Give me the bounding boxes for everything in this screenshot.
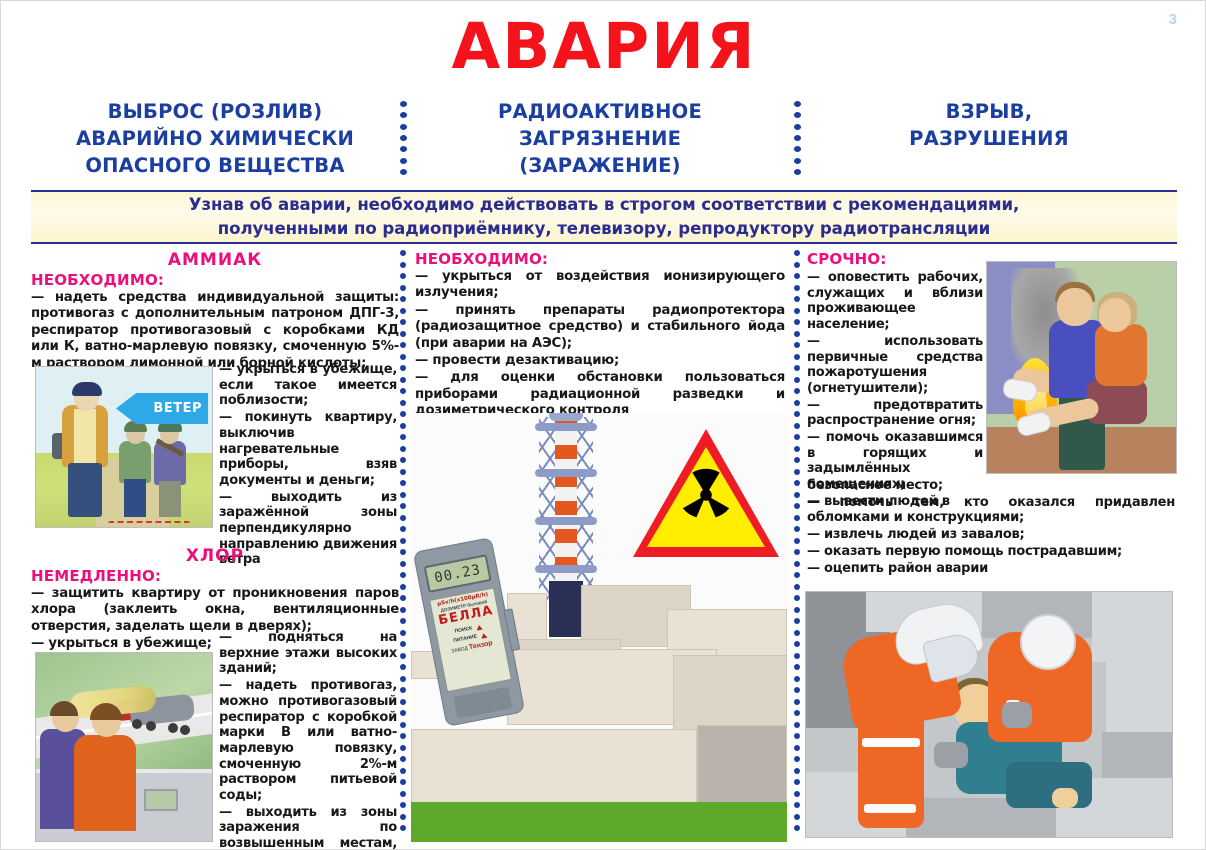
poster-root: 3 АВАРИЯ ВЫБРОС (РОЗЛИВ) АВАРИЙНО ХИМИЧЕ… bbox=[0, 0, 1206, 850]
explosion-full-item-1: — помочь тем, кто оказался придавлен обл… bbox=[807, 495, 1175, 526]
heading-radiation: РАДИОАКТИВНОЕ ЗАГРЯЗНЕНИЕ (ЗАРАЖЕНИЕ) bbox=[407, 97, 793, 180]
heading-chemical: ВЫБРОС (РОЗЛИВ) АВАРИЙНО ХИМИЧЕСКИ ОПАСН… bbox=[31, 97, 399, 180]
advisory-banner: Узнав об аварии, необходимо действовать … bbox=[31, 190, 1177, 244]
tanker-wheel-shape bbox=[168, 723, 178, 733]
chlorine-item-0: — защитить квартиру от проникновения пар… bbox=[31, 586, 399, 635]
chlorine-items-right: — подняться на верхние этажи высоких зда… bbox=[219, 630, 397, 850]
radiation-item-1: — принять препараты радиопротектора (рад… bbox=[415, 303, 785, 352]
explosion-full-item-2: — извлечь людей из завалов; bbox=[807, 527, 1175, 543]
man2-body-shape bbox=[74, 735, 136, 831]
tanker-wheel-shape bbox=[146, 721, 156, 731]
ammonia-items: — надеть средства индивидуальной защиты:… bbox=[31, 290, 399, 372]
adult-cap-shape bbox=[72, 382, 102, 396]
heading-explosion: ВЗРЫВ, РАЗРУШЕНИЯ bbox=[801, 97, 1177, 153]
chlorine-right-item-0: — подняться на верхние этажи высоких зда… bbox=[219, 630, 397, 677]
heading-chemical-line1: ВЫБРОС (РОЗЛИВ) bbox=[31, 99, 399, 126]
dosimeter-maker-prefix: ЗАВОД bbox=[451, 646, 469, 655]
adult-vest-shape bbox=[74, 409, 96, 465]
column-radiation: НЕОБХОДИМО: — укрыться от воздействия ио… bbox=[407, 250, 793, 846]
grass-strip bbox=[411, 802, 787, 842]
rock-shape bbox=[1092, 592, 1173, 662]
chimney-ring-shape bbox=[535, 565, 597, 573]
victim-head-shape bbox=[1099, 298, 1131, 332]
nuclear-plant-illustration: 00.23 µSv/h(x100µR/h) ДОЗИМЕТР бытовой Б… bbox=[411, 413, 787, 842]
chlorine-tanker-illustration bbox=[35, 652, 213, 842]
chimney-ring-shape bbox=[535, 423, 597, 431]
hi-vis-stripe bbox=[862, 738, 920, 747]
heading-chemical-line3: ОПАСНОГО ВЕЩЕСТВА bbox=[31, 153, 399, 180]
chimney-ring-shape bbox=[535, 469, 597, 477]
heading-radiation-line2: ЗАГРЯЗНЕНИЕ bbox=[407, 126, 793, 153]
content-columns: АММИАК НЕОБХОДИМО: — надеть средства инд… bbox=[31, 250, 1177, 846]
building-block bbox=[411, 729, 697, 803]
triangle-icon bbox=[480, 632, 487, 638]
heading-chemical-line2: АВАРИЙНО ХИМИЧЕСКИ bbox=[31, 126, 399, 153]
family-evacuating-illustration: ВЕТЕР bbox=[35, 366, 213, 528]
lead-necessary-ammonia: НЕОБХОДИМО: bbox=[31, 271, 399, 289]
rescuers-in-rubble-illustration bbox=[805, 591, 1173, 838]
radiation-item-2: — провести дезактивацию; bbox=[415, 353, 785, 369]
column-chemical: АММИАК НЕОБХОДИМО: — надеть средства инд… bbox=[31, 250, 399, 846]
chimney-cap-shape bbox=[549, 413, 583, 421]
tanker-wheel-shape bbox=[132, 719, 142, 729]
chimney-tower-shape bbox=[539, 417, 593, 603]
dosimeter-maker-name: Тензор bbox=[468, 640, 493, 651]
ammonia-items-right: — укрыться в убежище, если такое имеется… bbox=[219, 362, 397, 569]
explosion-items-left: — оповестить рабочих, служащих и вблизи … bbox=[807, 270, 983, 511]
glove-shape bbox=[934, 742, 968, 768]
child1-body-shape bbox=[119, 441, 151, 483]
dot-separator-1 bbox=[399, 97, 407, 175]
explosion-full-item-4: — оцепить район аварии bbox=[807, 561, 1175, 577]
hi-vis-stripe bbox=[864, 804, 916, 813]
chlorine-right-item-1: — надеть противогаз, можно противогазовы… bbox=[219, 678, 397, 804]
explosion-full-item-0: безопасное место; bbox=[807, 478, 1175, 494]
glove-shape bbox=[1002, 702, 1032, 728]
advisory-banner-line2: полученными по радиоприёмнику, телевизор… bbox=[218, 217, 990, 241]
victim-legs-shape bbox=[1006, 762, 1092, 808]
rescuer-head-shape bbox=[1057, 288, 1093, 326]
rescuer2-helmet-shape bbox=[1020, 614, 1076, 670]
advisory-banner-line1: Узнав об аварии, необходимо действовать … bbox=[189, 193, 1019, 217]
category-headings: ВЫБРОС (РОЗЛИВ) АВАРИЙНО ХИМИЧЕСКИ ОПАСН… bbox=[31, 97, 1177, 175]
rock-shape bbox=[1106, 656, 1173, 744]
ammonia-right-item-1: — покинуть квартиру, выключив нагревател… bbox=[219, 410, 397, 489]
explosion-items-full: безопасное место; — помочь тем, кто оказ… bbox=[807, 478, 1175, 577]
chlorine-right-item-2: — выходить из зоны заражения по возвышен… bbox=[219, 805, 397, 850]
page-title: АВАРИЯ bbox=[1, 15, 1206, 78]
tanker-wheel-shape bbox=[180, 725, 190, 735]
ammonia-right-item-0: — укрыться в убежище, если такое имеется… bbox=[219, 362, 397, 409]
section-title-chlorine: ХЛОР bbox=[31, 546, 399, 566]
rescue-from-fire-illustration bbox=[986, 261, 1177, 474]
building-block bbox=[673, 655, 787, 735]
dosimeter-reading: 00.23 bbox=[433, 561, 482, 586]
chimney-core-shape bbox=[555, 417, 577, 603]
victim-hand-shape bbox=[1052, 788, 1078, 808]
heading-explosion-line2: РАЗРУШЕНИЯ bbox=[801, 126, 1177, 153]
wind-arrow-label: ВЕТЕР bbox=[153, 401, 202, 416]
dot-separator-2 bbox=[793, 97, 801, 175]
chimney-ring-shape bbox=[535, 517, 597, 525]
victim-torso-shape bbox=[1095, 324, 1147, 386]
building-block bbox=[697, 725, 787, 803]
trefoil-icon bbox=[677, 466, 735, 524]
heading-radiation-line3: (ЗАРАЖЕНИЕ) bbox=[407, 153, 793, 180]
heading-radiation-line1: РАДИОАКТИВНОЕ bbox=[407, 99, 793, 126]
column-explosion: СРОЧНО: — оповестить рабочих, служащих и… bbox=[801, 250, 1177, 846]
explosion-left-item-0: — оповестить рабочих, служащих и вблизи … bbox=[807, 270, 983, 333]
dot-separator-4 bbox=[793, 250, 801, 846]
dot-separator-3 bbox=[399, 250, 407, 846]
section-title-ammonia: АММИАК bbox=[31, 250, 399, 270]
window-shape bbox=[144, 789, 178, 811]
radiation-item-0: — укрыться от воздействия ионизирующего … bbox=[415, 269, 785, 302]
radiation-hazard-sign-icon bbox=[633, 429, 779, 557]
heading-explosion-line1: ВЗРЫВ, bbox=[801, 99, 1177, 126]
explosion-full-item-3: — оказать первую помощь пострадавшим; bbox=[807, 544, 1175, 560]
chimney-base-shape bbox=[549, 581, 583, 637]
lead-necessary-radiation: НЕОБХОДИМО: bbox=[415, 250, 793, 268]
ammonia-item-0: — надеть средства индивидуальной защиты:… bbox=[31, 290, 399, 372]
explosion-left-item-1: — использовать первичные средства пожаро… bbox=[807, 334, 983, 397]
triangle-icon bbox=[476, 624, 483, 630]
lead-immediately-chlorine: НЕМЕДЛЕННО: bbox=[31, 567, 399, 585]
explosion-left-item-2: — предотвратить распространение огня; bbox=[807, 398, 983, 429]
dosimeter-button-search-label: ПОИСК bbox=[454, 625, 473, 634]
adult-legs-shape bbox=[68, 463, 102, 517]
radiation-items: — укрыться от воздействия ионизирующего … bbox=[415, 269, 785, 420]
